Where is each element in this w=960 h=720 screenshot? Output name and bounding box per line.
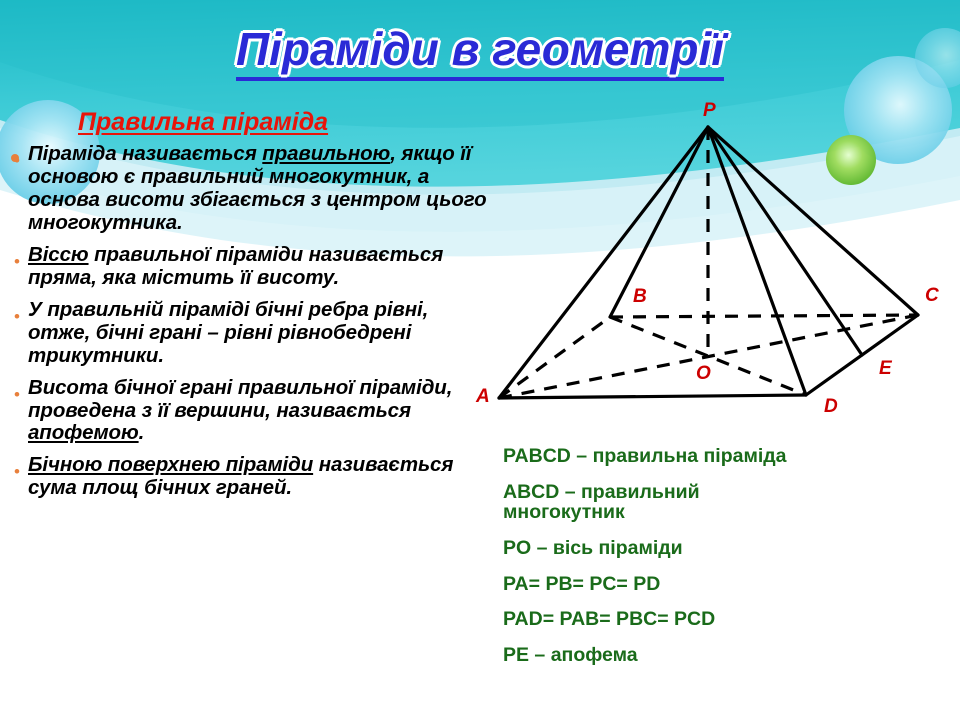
pyramid-edge-PA bbox=[499, 127, 708, 398]
pyramid-edge-BC bbox=[610, 315, 918, 317]
vertex-label-O: O bbox=[696, 363, 711, 385]
pyramid-edge-PC bbox=[708, 127, 918, 315]
vertex-label-D: D bbox=[824, 396, 838, 418]
pyramid-edge-PE bbox=[708, 127, 862, 355]
pyramid-edge-PD bbox=[708, 127, 806, 395]
vertex-label-B: B bbox=[633, 286, 647, 308]
slide-canvas: Піраміди в геометрії Правильна піраміда … bbox=[0, 0, 960, 720]
pyramid-hidden-edges bbox=[499, 127, 918, 398]
pyramid-edge-AC bbox=[499, 315, 918, 398]
vertex-label-P: P bbox=[703, 100, 716, 122]
pyramid-edge-AD bbox=[499, 395, 806, 398]
vertex-label-C: C bbox=[925, 285, 939, 307]
vertex-label-E: E bbox=[879, 358, 892, 380]
pyramid-edge-PB bbox=[610, 127, 708, 317]
vertex-label-A: A bbox=[476, 386, 490, 408]
pyramid-diagram bbox=[0, 0, 960, 720]
